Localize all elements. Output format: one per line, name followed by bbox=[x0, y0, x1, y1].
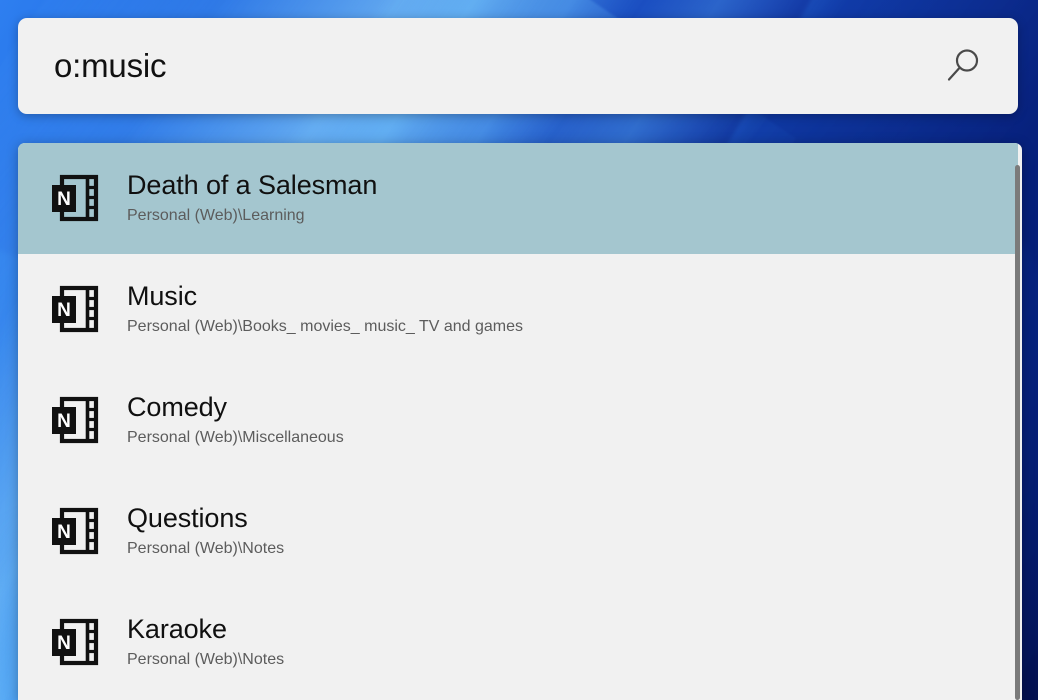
onenote-icon: N bbox=[47, 615, 103, 671]
result-row[interactable]: N Death of a Salesman Personal (Web)\Lea… bbox=[18, 143, 1018, 254]
results-scrollbar[interactable] bbox=[1012, 143, 1022, 700]
svg-text:N: N bbox=[57, 522, 71, 543]
result-subtitle: Personal (Web)\Books_ movies_ music_ TV … bbox=[127, 317, 523, 338]
results-list: N Death of a Salesman Personal (Web)\Lea… bbox=[18, 143, 1018, 700]
search-bar bbox=[18, 18, 1018, 114]
result-text: Questions Personal (Web)\Notes bbox=[127, 503, 284, 560]
result-subtitle: Personal (Web)\Notes bbox=[127, 650, 284, 671]
scrollbar-thumb[interactable] bbox=[1015, 165, 1020, 700]
search-input[interactable] bbox=[54, 43, 936, 89]
result-row[interactable]: N Comedy Personal (Web)\Miscellaneous bbox=[18, 365, 1018, 476]
result-row[interactable]: N Music Personal (Web)\Books_ movies_ mu… bbox=[18, 254, 1018, 365]
result-title: Music bbox=[127, 281, 523, 312]
result-text: Music Personal (Web)\Books_ movies_ musi… bbox=[127, 281, 523, 338]
svg-text:N: N bbox=[57, 411, 71, 432]
onenote-icon: N bbox=[47, 171, 103, 227]
search-icon bbox=[942, 45, 984, 87]
search-results-panel: N Death of a Salesman Personal (Web)\Lea… bbox=[18, 143, 1022, 700]
result-text: Karaoke Personal (Web)\Notes bbox=[127, 614, 284, 671]
onenote-icon: N bbox=[47, 393, 103, 449]
onenote-icon: N bbox=[47, 282, 103, 338]
result-title: Karaoke bbox=[127, 614, 284, 645]
result-subtitle: Personal (Web)\Learning bbox=[127, 206, 377, 227]
result-subtitle: Personal (Web)\Miscellaneous bbox=[127, 428, 344, 449]
svg-text:N: N bbox=[57, 189, 71, 210]
search-button[interactable] bbox=[936, 39, 990, 93]
result-row[interactable]: N Questions Personal (Web)\Notes bbox=[18, 476, 1018, 587]
onenote-icon: N bbox=[47, 504, 103, 560]
result-subtitle: Personal (Web)\Notes bbox=[127, 539, 284, 560]
result-text: Death of a Salesman Personal (Web)\Learn… bbox=[127, 170, 377, 227]
svg-text:N: N bbox=[57, 300, 71, 321]
svg-text:N: N bbox=[57, 633, 71, 654]
result-title: Death of a Salesman bbox=[127, 170, 377, 201]
result-row[interactable]: N Karaoke Personal (Web)\Notes bbox=[18, 587, 1018, 698]
result-title: Questions bbox=[127, 503, 284, 534]
result-title: Comedy bbox=[127, 392, 344, 423]
result-text: Comedy Personal (Web)\Miscellaneous bbox=[127, 392, 344, 449]
